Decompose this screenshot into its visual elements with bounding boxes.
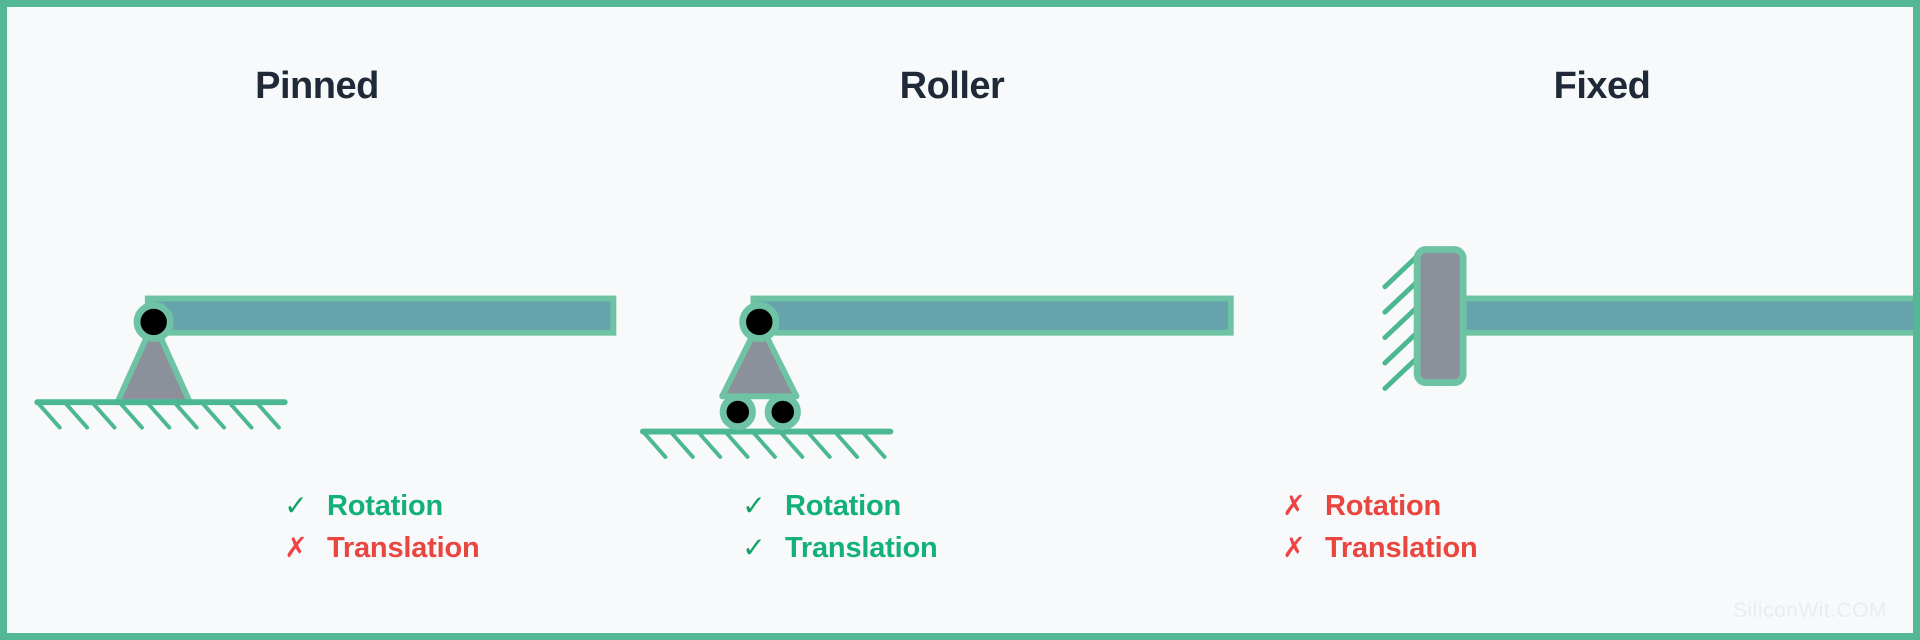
dof-label-translation: Translation [771, 532, 938, 565]
dof-label-rotation: Rotation [313, 490, 443, 523]
page-title-fixed: Fixed [1277, 65, 1920, 108]
dof-row-rotation: ✗ Rotation [1277, 485, 1920, 527]
pin-node [137, 305, 170, 338]
dof-label-rotation: Rotation [1311, 490, 1441, 523]
page-title-pinned: Pinned [7, 65, 627, 108]
column-roller: Roller [627, 7, 1277, 633]
check-icon: ✓ [737, 492, 771, 520]
fixed-wall-block [1417, 250, 1463, 383]
beam [148, 298, 614, 332]
legend-fixed: ✗ Rotation ✗ Translation [1277, 485, 1920, 569]
column-pinned: Pinned ✓ [7, 7, 627, 633]
cross-icon: ✗ [1277, 534, 1311, 562]
check-icon: ✓ [737, 534, 771, 562]
roller-wheel-right [768, 397, 797, 426]
cross-icon: ✗ [1277, 492, 1311, 520]
roller-wheel-left [723, 397, 752, 426]
beam [1441, 298, 1920, 332]
pin-triangle [722, 322, 796, 396]
column-fixed: Fixed ✗ Rotation ✗ Translation [1277, 7, 1920, 633]
dof-row-translation: ✗ Translation [1277, 527, 1920, 569]
page-title-roller: Roller [627, 65, 1277, 108]
dof-label-translation: Translation [1311, 532, 1478, 565]
dof-label-translation: Translation [313, 532, 480, 565]
check-icon: ✓ [279, 492, 313, 520]
pin-triangle [117, 322, 189, 402]
wall-hatching [1385, 253, 1420, 388]
ground-hatching [643, 432, 885, 457]
dof-label-rotation: Rotation [771, 490, 901, 523]
legend-roller: ✓ Rotation ✓ Translation [627, 485, 1387, 569]
ground-hatching [37, 402, 279, 427]
watermark: SiliconWit.COM [1733, 599, 1887, 623]
support-types-diagram: Pinned ✓ [0, 0, 1920, 640]
pin-node [743, 305, 776, 338]
cross-icon: ✗ [279, 534, 313, 562]
beam [753, 298, 1230, 332]
